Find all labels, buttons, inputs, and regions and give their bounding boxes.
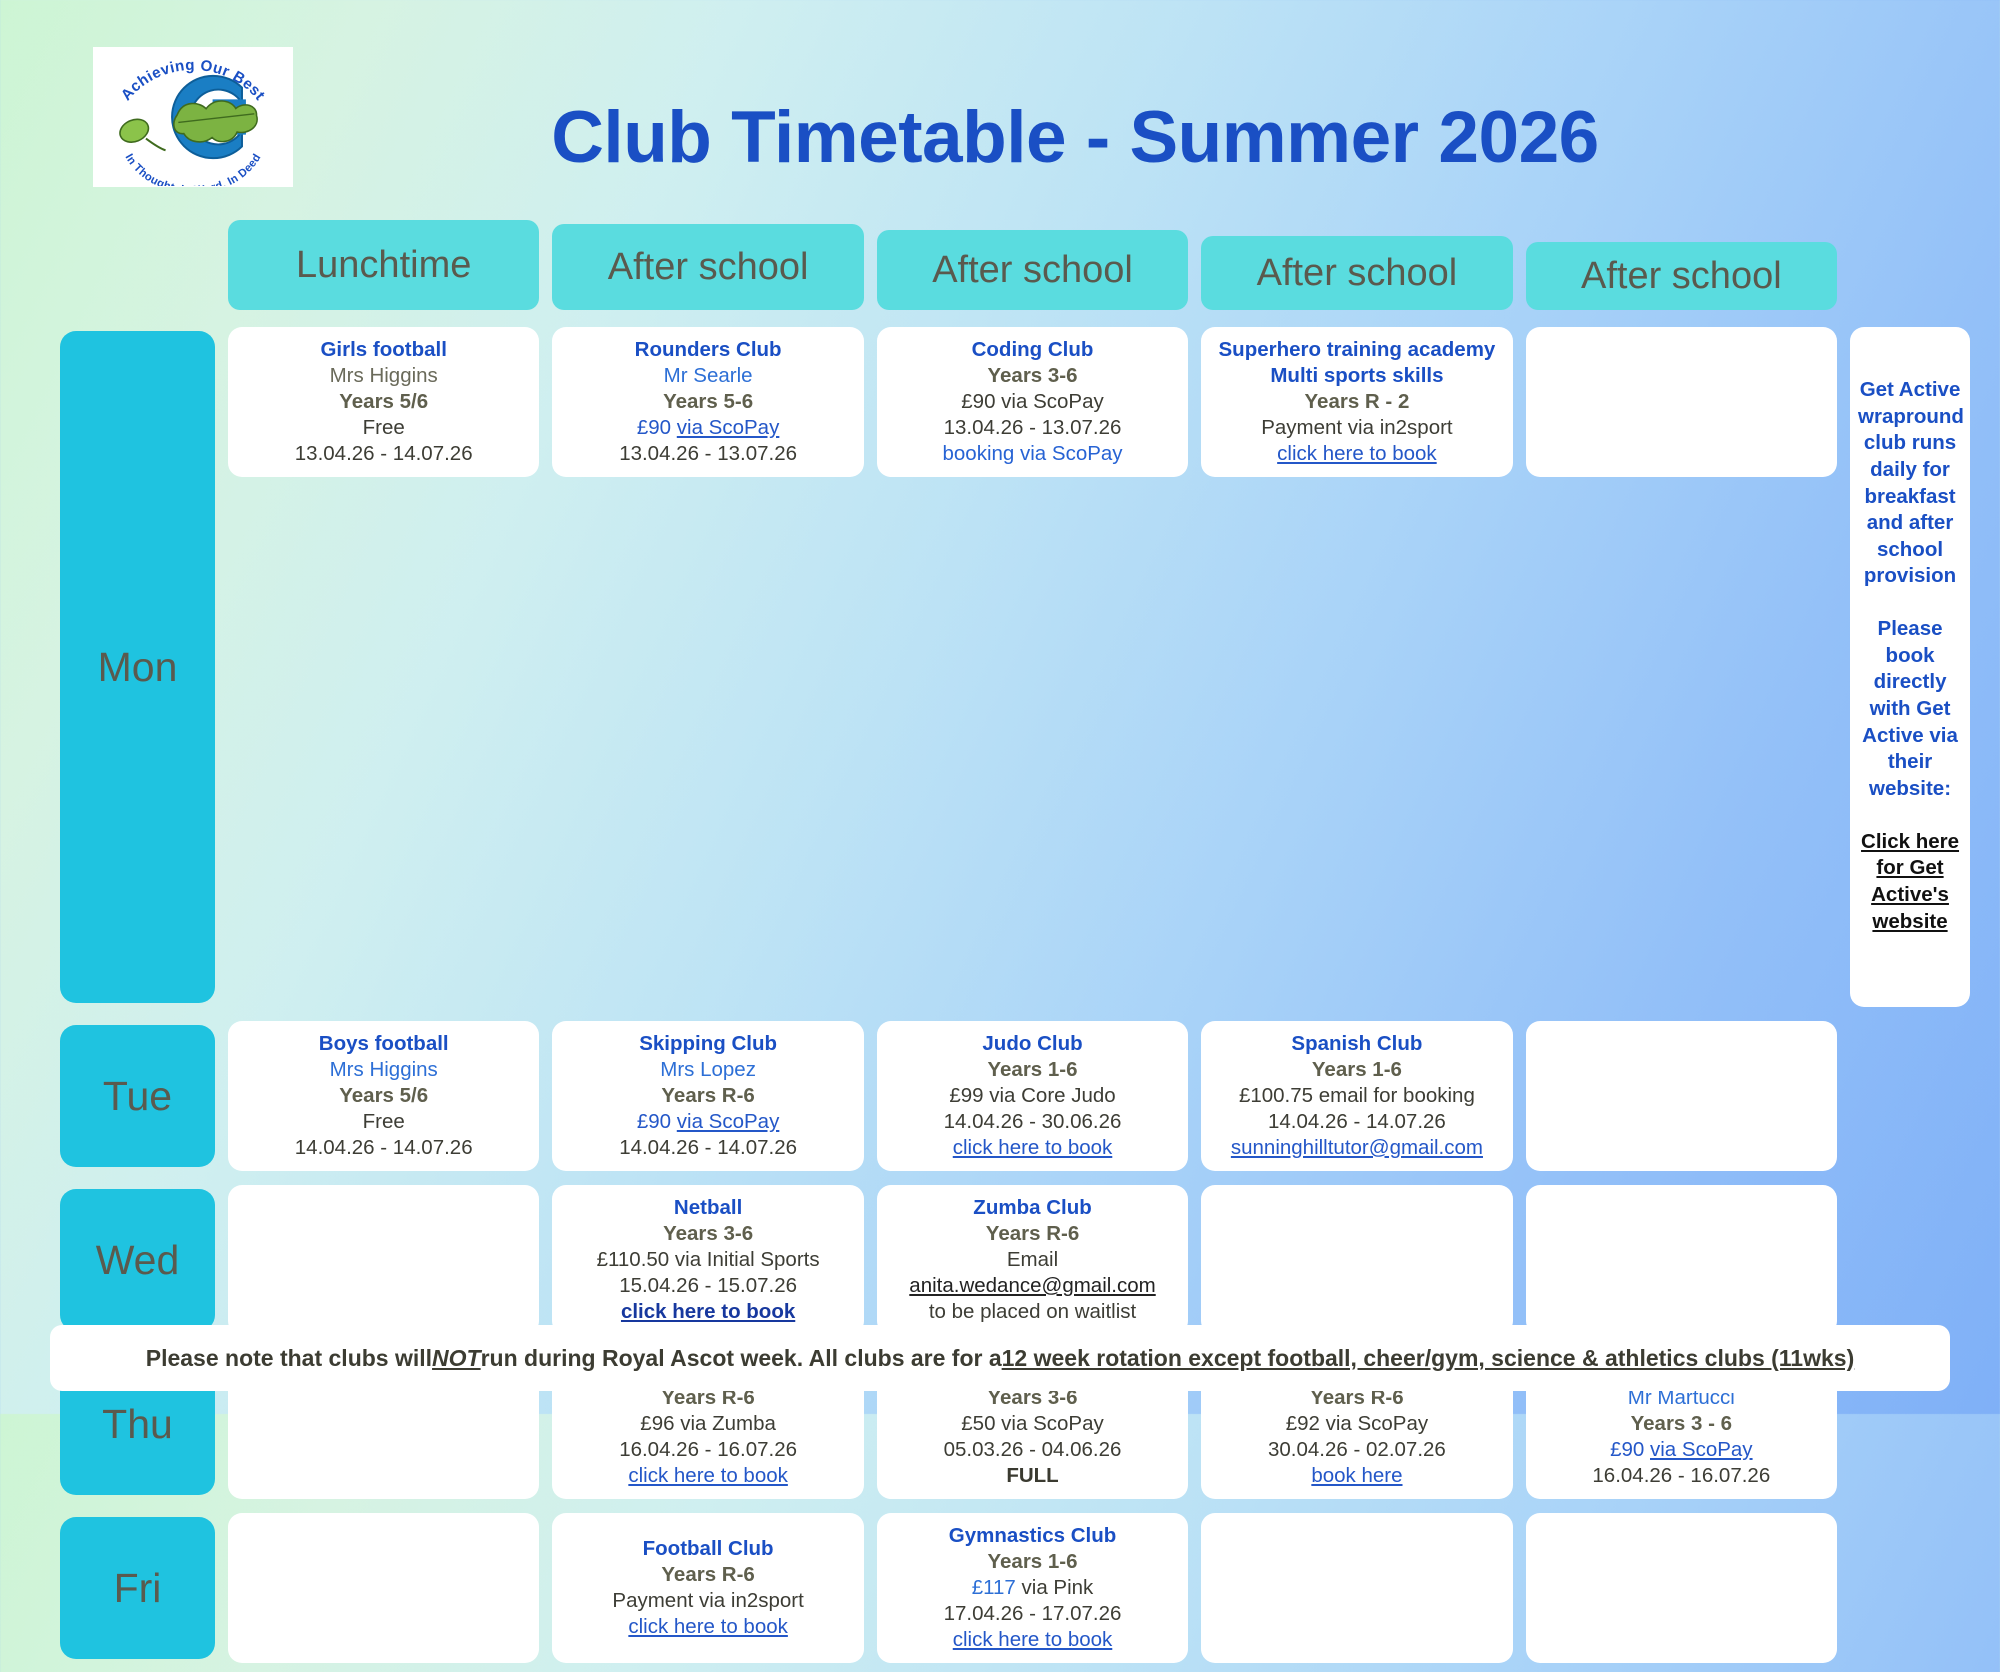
cell-mon-after-school-3[interactable]: Superhero training academyMulti sports s… xyxy=(1201,327,1512,477)
cell-line: FULL xyxy=(883,1463,1182,1489)
price-amount: £90 xyxy=(1610,1438,1650,1461)
day-label-mon: Mon xyxy=(60,331,215,1003)
cell-line: 13.04.26 - 13.07.26 xyxy=(883,415,1182,441)
cell-line: 16.04.26 - 16.07.26 xyxy=(1532,1463,1831,1489)
cell-line: Mr Searle xyxy=(558,363,857,389)
column-header-after-school-4: After school xyxy=(1526,242,1837,310)
cell-line: Spanish Club xyxy=(1207,1031,1506,1057)
cell-line: 16.04.26 - 16.07.26 xyxy=(558,1437,857,1463)
cell-line: 14.04.26 - 14.07.26 xyxy=(1207,1109,1506,1135)
cell-line: Years R - 2 xyxy=(1207,389,1506,415)
page-header: Achieving Our Best In Thought, In Word, … xyxy=(0,0,2000,200)
cell-tue-lunchtime[interactable]: Boys footballMrs HigginsYears 5/6Free14.… xyxy=(228,1021,539,1171)
cell-line: £90 via ScoPay xyxy=(883,389,1182,415)
cell-line: Years 1-6 xyxy=(883,1057,1182,1083)
cell-line: Rounders Club xyxy=(558,337,857,363)
cell-wed-after-school-3[interactable] xyxy=(1201,1185,1512,1335)
cell-line: Multi sports skills xyxy=(1207,363,1506,389)
side-panel-slot: Get Active wrapround club runs daily for… xyxy=(1850,322,1970,1012)
cell-tue-after-school-2[interactable]: Judo ClubYears 1-6£99 via Core Judo14.04… xyxy=(877,1021,1188,1171)
cell-line: Years 3-6 xyxy=(558,1221,857,1247)
cell-line: Free xyxy=(234,1109,533,1135)
cell-line[interactable]: click here to book xyxy=(558,1299,857,1325)
row-mon: Mon Girls footballMrs HigginsYears 5/6Fr… xyxy=(0,322,2000,1012)
cell-line: Years 5-6 xyxy=(558,389,857,415)
cell-line: 05.03.26 - 04.06.26 xyxy=(883,1437,1182,1463)
cell-line: Zumba Club xyxy=(883,1195,1182,1221)
cell-mon-lunchtime[interactable]: Girls footballMrs HigginsYears 5/6Free13… xyxy=(228,327,539,477)
price-amount: £90 xyxy=(637,1110,677,1133)
cell-line: Skipping Club xyxy=(558,1031,857,1057)
cell-line: 13.04.26 - 14.07.26 xyxy=(234,441,533,467)
day-label-wed: Wed xyxy=(60,1189,215,1331)
cell-mon-after-school-4[interactable] xyxy=(1526,327,1837,477)
cell-line[interactable]: click here to book xyxy=(883,1627,1182,1653)
cell-line: £117 via Pink xyxy=(883,1575,1182,1601)
get-active-panel: Get Active wrapround club runs daily for… xyxy=(1850,327,1970,1007)
cell-line: Netball xyxy=(558,1195,857,1221)
cell-wed-after-school-2[interactable]: Zumba ClubYears R-6Emailanita.wedance@gm… xyxy=(877,1185,1188,1335)
cell-line: Mrs Higgins xyxy=(234,363,533,389)
cell-wed-after-school-1[interactable]: NetballYears 3-6£110.50 via Initial Spor… xyxy=(552,1185,863,1335)
cell-line: booking via ScoPay xyxy=(883,441,1182,467)
cell-mon-after-school-2[interactable]: Coding ClubYears 3-6£90 via ScoPay13.04.… xyxy=(877,327,1188,477)
cell-line[interactable]: £90 via ScoPay xyxy=(558,1109,857,1135)
cell-line[interactable]: click here to book xyxy=(883,1135,1182,1161)
cell-line: 14.04.26 - 14.07.26 xyxy=(234,1135,533,1161)
cell-line: 15.04.26 - 15.07.26 xyxy=(558,1273,857,1299)
cell-line[interactable]: click here to book xyxy=(558,1614,857,1640)
cell-line: Payment via in2sport xyxy=(558,1588,857,1614)
cell-line: Years 1-6 xyxy=(883,1549,1182,1575)
row-wed: Wed NetballYears 3-6£110.50 via Initial … xyxy=(0,1180,2000,1340)
cell-line: 13.04.26 - 13.07.26 xyxy=(558,441,857,467)
cell-line: Years 5/6 xyxy=(234,1083,533,1109)
day-label-tue: Tue xyxy=(60,1025,215,1167)
side-spacer-tue xyxy=(1850,1016,1970,1176)
get-active-website-link[interactable]: Click here for Get Active's website xyxy=(1858,829,1962,936)
cell-line: Mrs Lopez xyxy=(558,1057,857,1083)
column-header-lunchtime: Lunchtime xyxy=(228,220,539,310)
cell-line: Coding Club xyxy=(883,337,1182,363)
get-active-paragraph-1: Get Active wrapround club runs daily for… xyxy=(1858,377,1962,590)
cell-line: Email xyxy=(883,1247,1182,1273)
cell-line: Mrs Higgins xyxy=(234,1057,533,1083)
cell-line: Years R-6 xyxy=(558,1562,857,1588)
cell-line: Boys football xyxy=(234,1031,533,1057)
cell-line: Years 3-6 xyxy=(883,363,1182,389)
spacer xyxy=(1858,590,1962,616)
column-header-after-school-1: After school xyxy=(552,224,863,310)
cell-tue-after-school-1[interactable]: Skipping ClubMrs LopezYears R-6£90 via S… xyxy=(552,1021,863,1171)
cell-line[interactable]: click here to book xyxy=(558,1463,857,1489)
footer-note: Please note that clubs will NOT run duri… xyxy=(50,1325,1950,1391)
timetable-grid: Lunchtime After school After school Afte… xyxy=(0,200,2000,1672)
cell-line: to be placed on waitlist xyxy=(883,1299,1182,1325)
row-tue: Tue Boys footballMrs HigginsYears 5/6Fre… xyxy=(0,1016,2000,1176)
cell-mon-after-school-1[interactable]: Rounders ClubMr SearleYears 5-6£90 via S… xyxy=(552,327,863,477)
cell-fri-after-school-1[interactable]: Football ClubYears R-6Payment via in2spo… xyxy=(552,1513,863,1663)
cell-line: 30.04.26 - 02.07.26 xyxy=(1207,1437,1506,1463)
cell-wed-after-school-4[interactable] xyxy=(1526,1185,1837,1335)
cell-line[interactable]: anita.wedance@gmail.com xyxy=(883,1273,1182,1299)
cell-line: Years 5/6 xyxy=(234,389,533,415)
cell-fri-after-school-2[interactable]: Gymnastics ClubYears 1-6£117 via Pink17.… xyxy=(877,1513,1188,1663)
cell-tue-after-school-3[interactable]: Spanish ClubYears 1-6£100.75 email for b… xyxy=(1201,1021,1512,1171)
cell-fri-after-school-4[interactable] xyxy=(1526,1513,1837,1663)
cell-line: £110.50 via Initial Sports xyxy=(558,1247,857,1273)
day-label-fri: Fri xyxy=(60,1517,215,1659)
footer-note-underlined: 12 week rotation except football, cheer/… xyxy=(1002,1345,1855,1372)
column-header-after-school-2: After school xyxy=(877,230,1188,310)
cell-line: Free xyxy=(234,415,533,441)
footer-note-not: NOT xyxy=(432,1345,481,1371)
cell-fri-lunchtime[interactable] xyxy=(228,1513,539,1663)
side-spacer-fri xyxy=(1850,1508,1970,1668)
cell-line: Gymnastics Club xyxy=(883,1523,1182,1549)
cell-line: 14.04.26 - 14.07.26 xyxy=(558,1135,857,1161)
cell-line: Judo Club xyxy=(883,1031,1182,1057)
column-header-after-school-3: After school xyxy=(1201,236,1512,310)
payment-link[interactable]: via ScoPay xyxy=(677,1110,780,1133)
cell-line: £96 via Zumba xyxy=(558,1411,857,1437)
cell-line: Payment via in2sport xyxy=(1207,415,1506,441)
price-amount: £90 xyxy=(637,416,677,439)
cell-line: Years 1-6 xyxy=(1207,1057,1506,1083)
cell-line: Superhero training academy xyxy=(1207,337,1506,363)
cell-line: Years R-6 xyxy=(558,1083,857,1109)
spacer xyxy=(1858,803,1962,829)
price-amount: £117 xyxy=(972,1576,1022,1599)
cell-line[interactable]: sunninghilltutor@gmail.com xyxy=(1207,1135,1506,1161)
cell-line: £100.75 email for booking xyxy=(1207,1083,1506,1109)
cell-line[interactable]: £90 via ScoPay xyxy=(1532,1437,1831,1463)
cell-fri-after-school-3[interactable] xyxy=(1201,1513,1512,1663)
cell-line[interactable]: click here to book xyxy=(1207,441,1506,467)
cell-line: £50 via ScoPay xyxy=(883,1411,1182,1437)
cell-tue-after-school-4[interactable] xyxy=(1526,1021,1837,1171)
row-fri: Fri Football ClubYears R-6Payment via in… xyxy=(0,1508,2000,1668)
price-provider: via Pink xyxy=(1022,1576,1094,1599)
cell-wed-lunchtime[interactable] xyxy=(228,1185,539,1335)
get-active-paragraph-2: Please book directly with Get Active via… xyxy=(1858,616,1962,802)
cell-line: £92 via ScoPay xyxy=(1207,1411,1506,1437)
side-spacer-wed xyxy=(1850,1180,1970,1340)
cell-line[interactable]: book here xyxy=(1207,1463,1506,1489)
page-title: Club Timetable - Summer 2026 xyxy=(0,96,2000,179)
cell-line: £99 via Core Judo xyxy=(883,1083,1182,1109)
cell-line: 17.04.26 - 17.07.26 xyxy=(883,1601,1182,1627)
column-header-row: Lunchtime After school After school Afte… xyxy=(0,200,2000,310)
payment-link[interactable]: via ScoPay xyxy=(677,416,780,439)
cell-line[interactable]: £90 via ScoPay xyxy=(558,415,857,441)
cell-line: Girls football xyxy=(234,337,533,363)
payment-link[interactable]: via ScoPay xyxy=(1650,1438,1753,1461)
cell-line: 14.04.26 - 30.06.26 xyxy=(883,1109,1182,1135)
cell-line: Years R-6 xyxy=(883,1221,1182,1247)
footer-note-part1: Please note that clubs will xyxy=(146,1345,432,1372)
cell-line: Years 3 - 6 xyxy=(1532,1411,1831,1437)
cell-line: Football Club xyxy=(558,1536,857,1562)
footer-note-part2: run during Royal Ascot week. All clubs a… xyxy=(481,1345,1002,1372)
